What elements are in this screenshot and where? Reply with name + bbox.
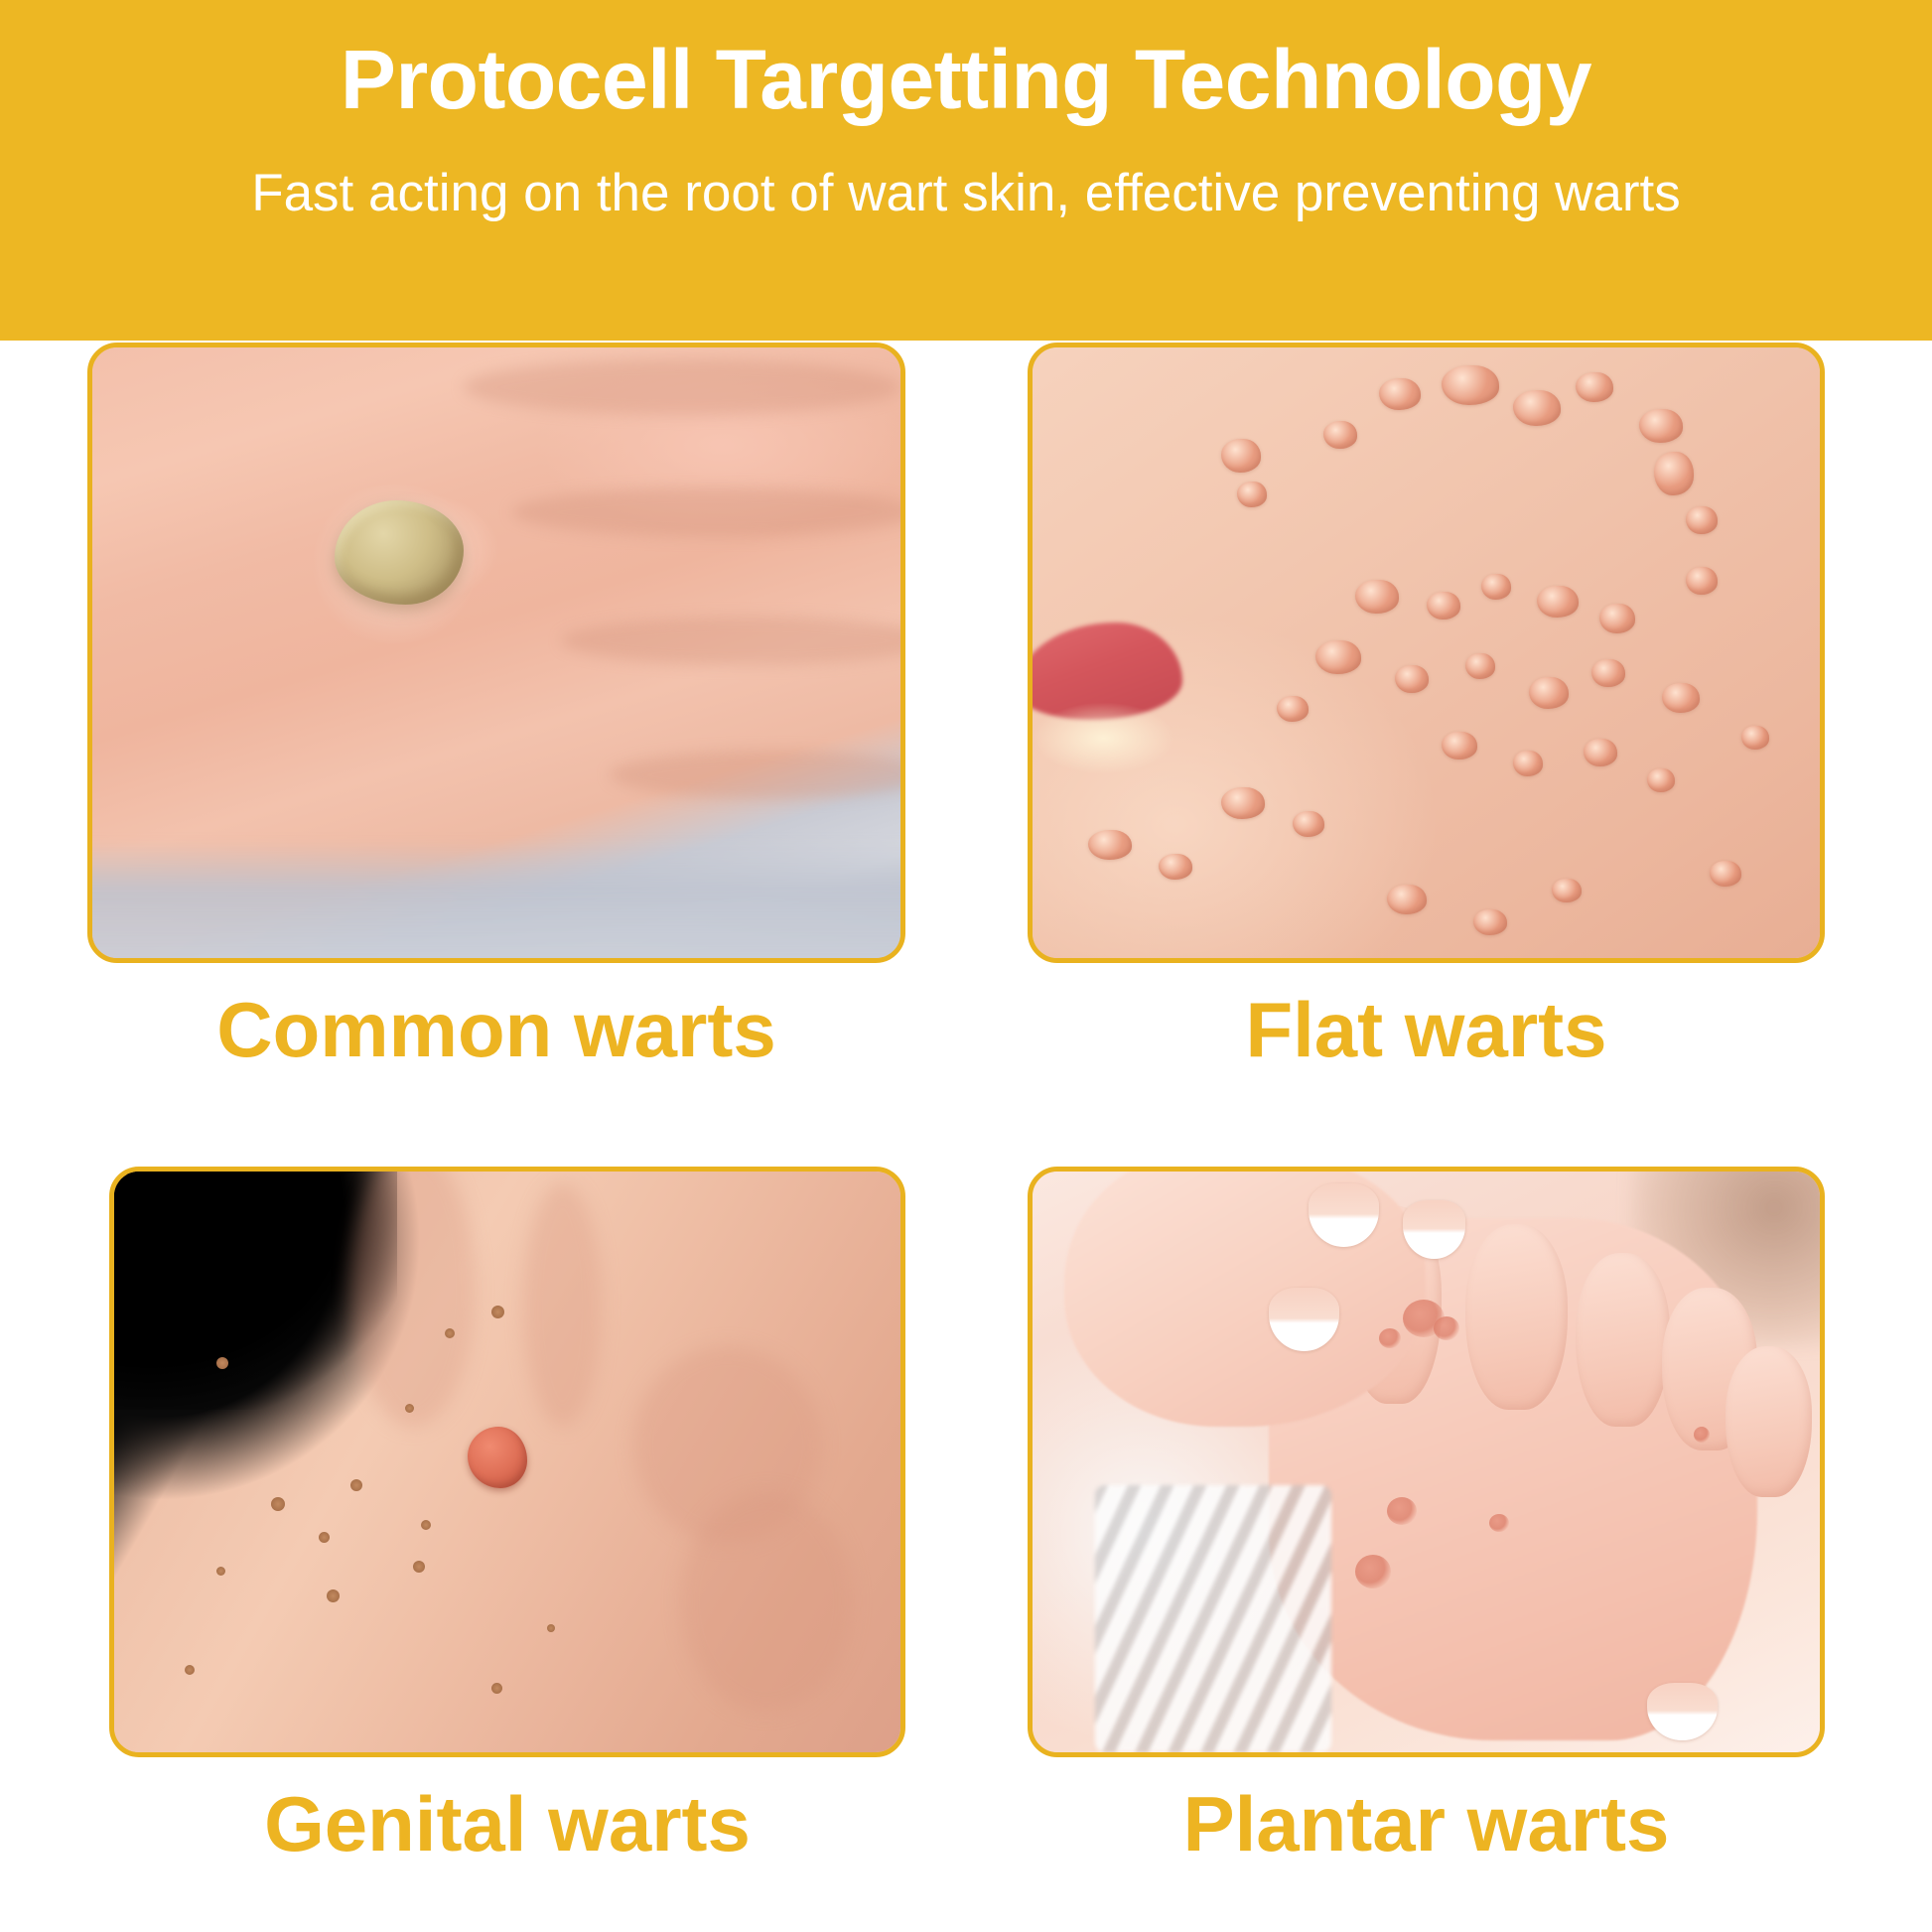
wart-card-genital-warts[interactable] xyxy=(109,1167,905,1757)
genital-wart-lesion xyxy=(468,1427,527,1488)
card-frame xyxy=(109,1167,905,1757)
card-frame xyxy=(87,343,905,963)
common-wart-lesion xyxy=(335,500,464,605)
wart-card-label-genital-warts: Genital warts xyxy=(109,1785,905,1863)
wart-card-plantar-warts[interactable] xyxy=(1028,1167,1825,1757)
wart-type-grid: Common warts xyxy=(0,341,1932,1932)
lip-highlight xyxy=(1033,702,1174,775)
card-frame xyxy=(1028,1167,1825,1757)
wart-card-flat-warts[interactable] xyxy=(1028,343,1825,963)
wart-card-label-plantar-warts: Plantar warts xyxy=(1028,1785,1825,1863)
page-subtitle: Fast acting on the root of wart skin, ef… xyxy=(0,167,1932,219)
table-edge xyxy=(87,842,905,963)
hand-with-common-wart-photo xyxy=(92,347,900,958)
wart-card-common-warts[interactable] xyxy=(87,343,905,963)
neck-with-genital-wart-photo xyxy=(114,1172,900,1752)
striped-fabric xyxy=(1095,1485,1331,1752)
wart-card-label-flat-warts: Flat warts xyxy=(1028,991,1825,1068)
page-title: Protocell Targetting Technology xyxy=(0,38,1932,121)
wart-card-label-common-warts: Common warts xyxy=(87,991,905,1068)
cheek-with-flat-warts-photo xyxy=(1033,347,1820,958)
card-frame xyxy=(1028,343,1825,963)
header-banner: Protocell Targetting Technology Fast act… xyxy=(0,0,1932,341)
foot-with-plantar-warts-photo xyxy=(1033,1172,1820,1752)
